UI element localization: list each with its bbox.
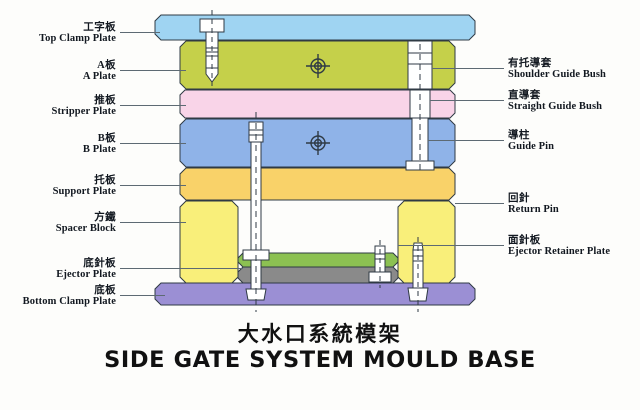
leader-support-plate — [120, 185, 186, 186]
label-en: Return Pin — [508, 204, 559, 215]
label-cn: A板 — [83, 60, 116, 71]
label-support-plate: 托板 Support Plate — [53, 175, 116, 198]
label-cn: 回針 — [508, 193, 559, 204]
leader-bottom-clamp-plate — [120, 295, 165, 296]
page-subtitle: SIDE GATE SYSTEM MOULD BASE — [0, 347, 640, 373]
label-cn: 直導套 — [508, 90, 602, 101]
leader-a-plate — [120, 70, 186, 71]
label-en: Shoulder Guide Bush — [508, 69, 606, 80]
label-ejector-retainer-plate: 面針板 Ejector Retainer Plate — [508, 235, 610, 258]
label-a-plate: A板 A Plate — [83, 60, 116, 83]
leader-straight-guide-bush — [430, 100, 504, 101]
label-cn: 工字板 — [39, 22, 116, 33]
label-straight-guide-bush: 直導套 Straight Guide Bush — [508, 90, 602, 113]
plate-spacer-block-left — [180, 201, 238, 283]
page-title-cn: 大水口系統模架 — [0, 318, 640, 348]
label-en: Guide Pin — [508, 141, 554, 152]
label-shoulder-guide-bush: 有托導套 Shoulder Guide Bush — [508, 58, 606, 81]
label-cn: 導柱 — [508, 130, 554, 141]
label-cn: 方鐵 — [56, 212, 116, 223]
label-en: Stripper Plate — [52, 106, 117, 117]
label-b-plate: B板 B Plate — [83, 133, 116, 156]
label-en: Support Plate — [53, 186, 116, 197]
label-spacer-block: 方鐵 Spacer Block — [56, 212, 116, 235]
leader-ejector-retainer-plate — [398, 245, 504, 246]
diagram-canvas: 工字板 Top Clamp Plate A板 A Plate 推板 Stripp… — [0, 0, 640, 410]
label-bottom-clamp-plate: 底板 Bottom Clamp Plate — [23, 285, 116, 308]
leader-return-pin — [455, 203, 504, 204]
label-en: Top Clamp Plate — [39, 33, 116, 44]
leader-stripper-plate — [120, 105, 186, 106]
page-title-en: SIDE GATE SYSTEM MOULD BASE — [0, 347, 640, 373]
label-en: Ejector Retainer Plate — [508, 246, 610, 257]
label-cn: 推板 — [52, 95, 117, 106]
label-cn: 底針板 — [56, 258, 116, 269]
leader-b-plate — [120, 143, 186, 144]
label-en: Bottom Clamp Plate — [23, 296, 116, 307]
leader-guide-pin — [428, 140, 504, 141]
label-cn: 面針板 — [508, 235, 610, 246]
label-en: Ejector Plate — [56, 269, 116, 280]
plate-spacer-block-right — [398, 201, 455, 283]
label-cn: B板 — [83, 133, 116, 144]
label-en: Spacer Block — [56, 223, 116, 234]
label-en: Straight Guide Bush — [508, 101, 602, 112]
label-cn: 底板 — [23, 285, 116, 296]
page-title: 大水口系統模架 — [0, 318, 640, 348]
leader-shoulder-guide-bush — [432, 68, 504, 69]
label-return-pin: 回針 Return Pin — [508, 193, 559, 216]
label-cn: 托板 — [53, 175, 116, 186]
label-ejector-plate: 底針板 Ejector Plate — [56, 258, 116, 281]
leader-ejector-plate — [120, 268, 243, 269]
label-top-clamp-plate: 工字板 Top Clamp Plate — [39, 22, 116, 45]
leader-top-clamp-plate — [120, 32, 160, 33]
leader-spacer-block — [120, 222, 186, 223]
label-en: A Plate — [83, 71, 116, 82]
plate-support-plate — [180, 168, 455, 200]
label-stripper-plate: 推板 Stripper Plate — [52, 95, 117, 118]
label-cn: 有托導套 — [508, 58, 606, 69]
label-en: B Plate — [83, 144, 116, 155]
label-guide-pin: 導柱 Guide Pin — [508, 130, 554, 153]
